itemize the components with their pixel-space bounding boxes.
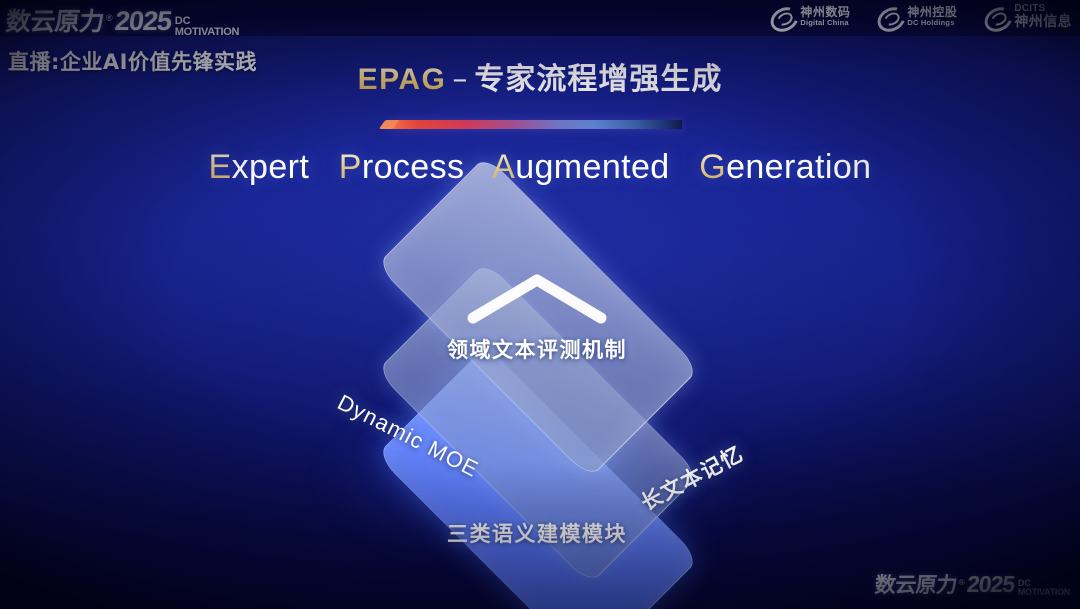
brand-logo-cn: 数云原力 xyxy=(4,2,106,38)
partner-logo-group: 神州数码 Digital China 神州控股 DC Holdings DCIT… xyxy=(769,4,1072,29)
slide-canvas: 数云原力 ® 2025 DC MOTIVATION 直播:企业AI价值先锋实践 … xyxy=(0,0,1080,609)
subtitle-space xyxy=(319,148,329,186)
partner-name-cn: 神州信息 xyxy=(1014,15,1072,30)
watermark-logo-year: 2025 xyxy=(965,571,1015,598)
subtitle-word-expert: Expert xyxy=(209,148,310,186)
partner-name-en: DC Holdings xyxy=(907,19,957,27)
subtitle-word-process: Process xyxy=(339,148,465,186)
subtitle-rest-generation: eneration xyxy=(726,148,871,186)
brand-logo: 数云原力 ® 2025 DC MOTIVATION xyxy=(6,2,239,44)
brand-logo-year: 2025 xyxy=(113,6,172,37)
spiral-icon xyxy=(876,6,902,28)
subtitle-cap-g: G xyxy=(699,148,726,186)
brand-logo-dc-motivation: DC MOTIVATION xyxy=(175,16,239,38)
subtitle-rest-augmented: ugmented xyxy=(515,148,669,186)
brand-registered-mark: ® xyxy=(106,13,113,23)
subtitle-space xyxy=(679,148,689,186)
partner-name-en: DCITS xyxy=(1014,4,1072,15)
brand-watermark: 数云原力 ® 2025 DC MOTIVATION xyxy=(875,569,1070,603)
page-title-dash: – xyxy=(446,62,474,97)
subtitle-space xyxy=(474,148,484,186)
subtitle-rest-process: rocess xyxy=(362,148,465,186)
partner-logo-digital-china: 神州数码 Digital China xyxy=(769,6,850,28)
gradient-divider xyxy=(388,120,682,129)
page-subtitle: Expert Process Augmented Generation xyxy=(0,148,1080,187)
partner-label: 神州数码 Digital China xyxy=(800,6,850,27)
subtitle-word-generation: Generation xyxy=(699,148,871,186)
watermark-logo-cn: 数云原力 xyxy=(873,569,958,599)
partner-logo-dcits: DCITS 神州信息 xyxy=(983,4,1072,29)
subtitle-cap-e: E xyxy=(209,148,232,186)
page-title-chinese: 专家流程增强生成 xyxy=(474,62,722,97)
subtitle-rest-expert: xpert xyxy=(232,148,310,186)
layer-label-bottom: 三类语义建模模块 xyxy=(447,518,627,548)
layer-label-top: 领域文本评测机制 xyxy=(447,334,627,364)
watermark-dc-motivation: DC MOTIVATION xyxy=(1018,579,1070,597)
layered-stack-diagram: 领域文本评测机制 Dynamic MOE 长文本记忆 三类语义建模模块 xyxy=(277,236,797,576)
subtitle-cap-a: A xyxy=(492,148,515,186)
subtitle-word-augmented: Augmented xyxy=(492,148,670,186)
watermark-registered-mark: ® xyxy=(959,578,965,587)
partner-logo-dc-holdings: 神州控股 DC Holdings xyxy=(876,6,957,28)
spiral-icon xyxy=(769,6,795,28)
chevron-up-icon xyxy=(465,270,609,326)
page-title-acronym: EPAG xyxy=(358,63,447,96)
brand-motivation-text: MOTIVATION xyxy=(175,27,239,38)
partner-label: DCITS 神州信息 xyxy=(1014,4,1072,29)
subtitle-cap-p: P xyxy=(339,148,362,186)
partner-name-en: Digital China xyxy=(800,19,850,27)
watermark-motivation-text: MOTIVATION xyxy=(1018,588,1070,597)
spiral-icon xyxy=(983,6,1009,28)
partner-label: 神州控股 DC Holdings xyxy=(907,6,957,27)
page-title: EPAG–专家流程增强生成 xyxy=(0,54,1080,98)
